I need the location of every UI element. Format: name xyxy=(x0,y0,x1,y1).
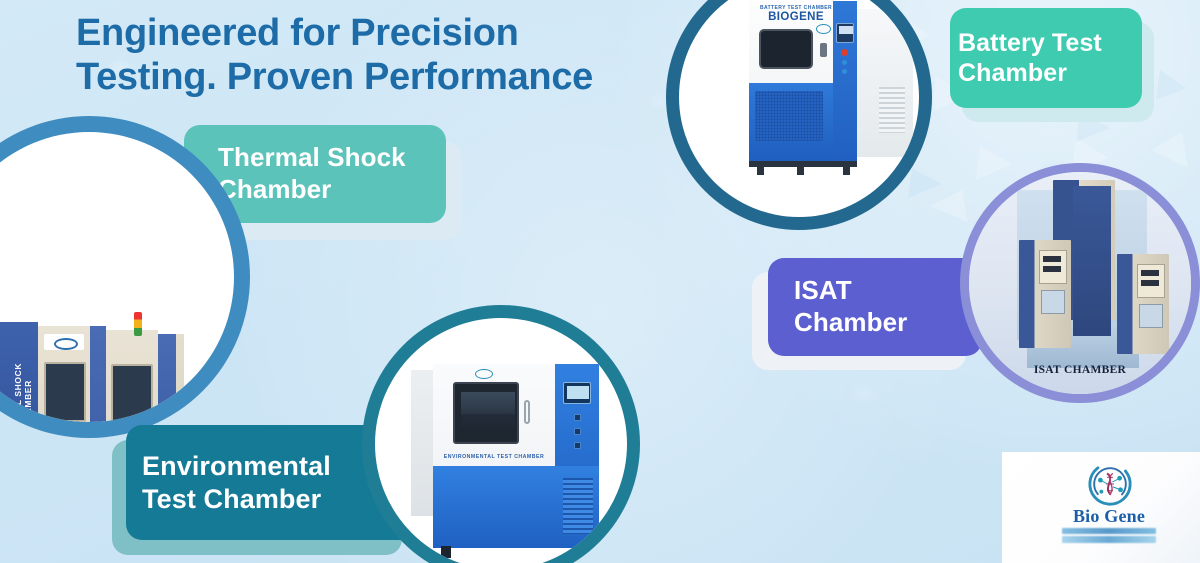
product-circle-isat: ISAT CHAMBER xyxy=(960,163,1200,403)
machine-button-icon-2 xyxy=(574,428,581,435)
machine-brand-logo-icon xyxy=(813,23,833,37)
machine-door-window xyxy=(759,29,813,69)
brand-logo-card: Bio Gene xyxy=(1002,452,1200,563)
headline-line-2: Testing. Proven Performance xyxy=(76,55,696,99)
headline-line-1: Engineered for Precision xyxy=(76,11,696,55)
machine-door-handle xyxy=(524,400,530,424)
machine-caption-thermal: THERMAL SHOCK CHAMBER xyxy=(13,339,33,422)
machine-button-icon-1 xyxy=(842,60,847,65)
machine-door-window xyxy=(453,382,519,444)
machine-door-handle xyxy=(820,43,827,57)
label-thermal-line-1: Thermal Shock xyxy=(218,142,446,174)
product-photo-battery-test: BATTERY TEST CHAMBER BIOGENE xyxy=(679,0,919,217)
product-photo-thermal-shock: THERMAL SHOCK CHAMBER xyxy=(0,132,234,422)
label-battery-line-1: Battery Test xyxy=(958,28,1142,59)
machine-battery-test-chamber: BATTERY TEST CHAMBER BIOGENE xyxy=(737,0,915,185)
machine-brand-logo-icon xyxy=(44,334,84,350)
machine-brand-logo-icon xyxy=(467,368,501,380)
machine-button-icon-3 xyxy=(574,442,581,449)
machine-door-window-2 xyxy=(111,364,153,422)
machine-control-panel xyxy=(563,382,591,404)
machine-thermal-shock-chamber: THERMAL SHOCK CHAMBER xyxy=(0,312,190,422)
dna-circle-logo-icon xyxy=(1086,460,1134,508)
machine-caption-environmental: ENVIRONMENTAL TEST CHAMBER xyxy=(433,454,555,460)
label-battery-test-chamber[interactable]: Battery Test Chamber xyxy=(950,8,1142,108)
machine-isat-chamber: ISAT CHAMBER xyxy=(969,172,1191,394)
brand-name-part2: Gene xyxy=(1104,506,1145,526)
machine-button-icon-1 xyxy=(574,414,581,421)
machine-button-icon-2 xyxy=(842,69,847,74)
product-photo-isat: ISAT CHAMBER xyxy=(969,172,1191,394)
machine-environmental-test-chamber: ENVIRONMENTAL TEST CHAMBER xyxy=(411,356,611,562)
label-battery-line-2: Chamber xyxy=(958,58,1142,89)
product-photo-environmental: ENVIRONMENTAL TEST CHAMBER xyxy=(375,318,627,563)
label-isat-line-2: Chamber xyxy=(794,307,982,339)
label-isat-chamber[interactable]: ISAT Chamber xyxy=(768,258,982,356)
machine-door-window xyxy=(44,362,86,422)
brand-url-strip xyxy=(1062,536,1156,543)
label-isat-line-1: ISAT xyxy=(794,275,982,307)
machine-vent-grille xyxy=(879,87,905,133)
brand-name-part1: Bio xyxy=(1073,506,1100,526)
machine-vent-grille xyxy=(563,478,593,534)
machine-perforated-panel xyxy=(755,91,823,141)
brand-logo: Bio Gene xyxy=(1054,458,1164,558)
page-title: Engineered for Precision Testing. Proven… xyxy=(76,11,696,99)
machine-caption-isat: ISAT CHAMBER xyxy=(969,364,1191,376)
brand-logo-name: Bio Gene xyxy=(1054,506,1164,527)
label-thermal-line-2: Chamber xyxy=(218,174,446,206)
brand-tagline-strip xyxy=(1062,528,1156,534)
machine-power-button-icon xyxy=(841,49,848,56)
machine-control-panel xyxy=(836,23,854,43)
machine-brand-battery: BIOGENE xyxy=(749,11,843,23)
machine-status-beacon-icon xyxy=(134,312,142,336)
